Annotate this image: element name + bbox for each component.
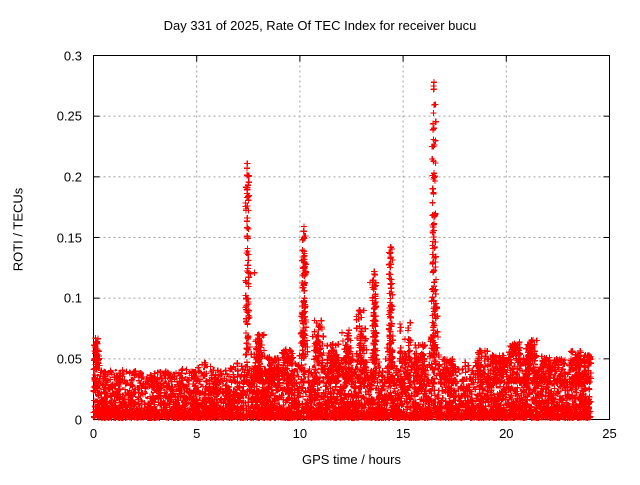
y-tick-label: 0.05 xyxy=(57,351,82,366)
x-tick-label: 10 xyxy=(280,426,320,441)
y-axis-label: ROTI / TECUs xyxy=(11,150,26,310)
x-tick-label: 5 xyxy=(177,426,217,441)
y-tick-label: 0 xyxy=(75,412,82,427)
x-tick-label: 25 xyxy=(590,426,630,441)
y-tick-label: 0.15 xyxy=(57,230,82,245)
y-tick-label: 0.1 xyxy=(64,291,82,306)
y-tick-label: 0.2 xyxy=(64,169,82,184)
x-axis-label: GPS time / hours xyxy=(93,452,610,467)
data-points xyxy=(91,79,594,421)
roti-scatter-figure: Day 331 of 2025, Rate Of TEC Index for r… xyxy=(0,0,640,480)
plot-canvas xyxy=(0,0,640,480)
x-tick-label: 15 xyxy=(383,426,423,441)
y-tick-label: 0.3 xyxy=(64,48,82,63)
x-tick-label: 0 xyxy=(74,426,114,441)
roti-point-cloud-markers xyxy=(91,79,594,421)
x-tick-label: 20 xyxy=(486,426,526,441)
y-tick-label: 0.25 xyxy=(57,109,82,124)
page-title: Day 331 of 2025, Rate Of TEC Index for r… xyxy=(0,18,640,33)
